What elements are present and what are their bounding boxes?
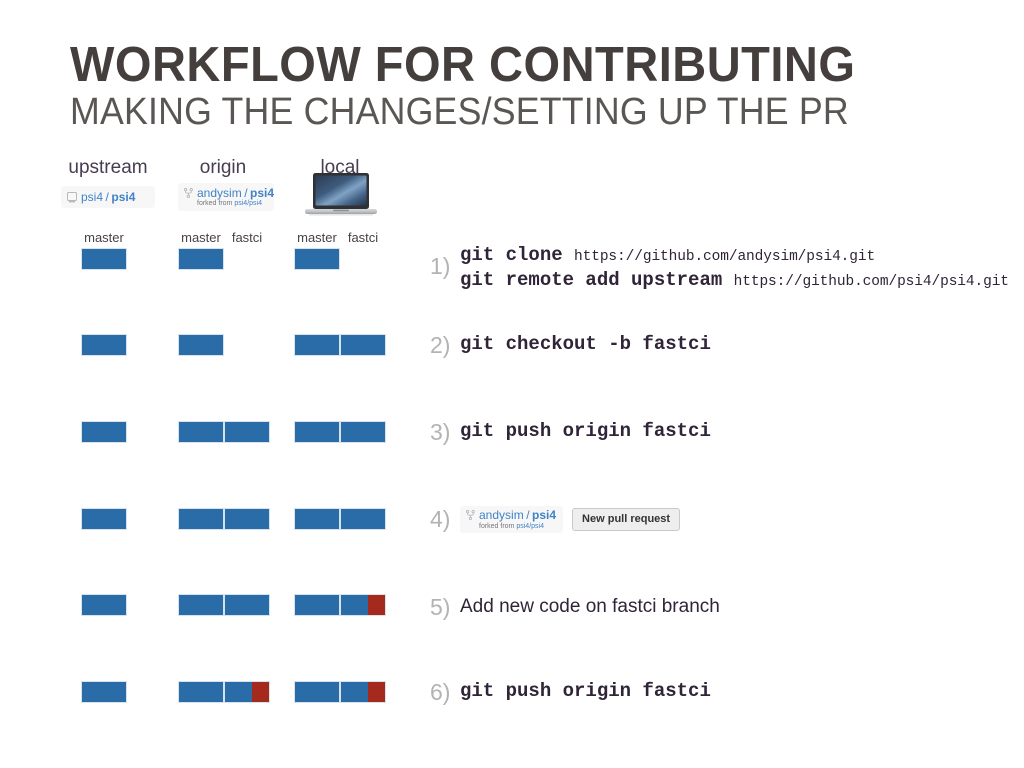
laptop-icon: [305, 171, 377, 219]
step-number: 6): [430, 679, 460, 704]
repo-separator: /: [244, 187, 247, 200]
forked-from-label: forked from psi4/psi4: [466, 523, 556, 530]
command-text: git clone: [460, 244, 574, 266]
bar-segment-blue: [225, 422, 269, 442]
repo-badge-pull-request[interactable]: andysim/psi4forked from psi4/psi4: [460, 506, 563, 533]
branch-bar-local-row5: [340, 594, 386, 616]
branch-bar-local-row2: [294, 334, 340, 356]
step-3: 3)git push origin fastci: [430, 419, 711, 444]
branch-bar-origin-row4: [224, 508, 270, 530]
step-content: git push origin fastci: [460, 679, 711, 704]
branch-bar-local-row3: [340, 421, 386, 443]
step-number: 5): [430, 594, 460, 619]
branch-bar-origin-row3: [178, 421, 224, 443]
bar-segment-blue: [82, 509, 126, 529]
repo-owner[interactable]: andysim: [479, 509, 524, 522]
branch-label-local-fastci: fastci: [340, 231, 386, 244]
branch-bar-local-row5: [294, 594, 340, 616]
bar-segment-blue: [295, 682, 339, 702]
branch-label-origin-master: master: [178, 231, 224, 244]
step-number: 2): [430, 332, 460, 357]
bar-segment-blue: [179, 422, 223, 442]
git-command-line: git clone https://github.com/andysim/psi…: [460, 243, 1009, 268]
branch-label-upstream-master: master: [81, 231, 127, 244]
bar-segment-red: [368, 682, 385, 702]
bar-segment-blue: [295, 509, 339, 529]
branch-bar-origin-row5: [178, 594, 224, 616]
branch-bar-local-row4: [294, 508, 340, 530]
column-title-upstream: upstream: [48, 158, 168, 177]
page-title: WORKFLOW FOR CONTRIBUTING: [70, 41, 855, 90]
repo-name[interactable]: psi4: [532, 509, 556, 522]
bar-segment-blue: [341, 335, 385, 355]
branch-bar-upstream-row1: [81, 248, 127, 270]
branch-bar-upstream-row3: [81, 421, 127, 443]
command-text: git remote add upstream: [460, 269, 734, 291]
step-number: 1): [430, 243, 460, 278]
repo-separator: /: [526, 509, 529, 522]
repo-badge-line: andysim/psi4: [466, 509, 556, 522]
bar-segment-blue: [341, 595, 368, 615]
branch-bar-origin-row6: [178, 681, 224, 703]
bar-segment-blue: [179, 595, 223, 615]
bar-segment-blue: [225, 509, 269, 529]
branch-label-local-master: master: [294, 231, 340, 244]
step-2: 2)git checkout -b fastci: [430, 332, 711, 357]
branch-bar-upstream-row5: [81, 594, 127, 616]
pull-request-row: andysim/psi4forked from psi4/psi4New pul…: [460, 506, 680, 533]
step-content: git clone https://github.com/andysim/psi…: [460, 243, 1009, 294]
forked-from-label: forked from psi4/psi4: [184, 200, 267, 207]
bar-segment-blue: [179, 682, 223, 702]
bar-segment-blue: [295, 249, 339, 269]
page-subtitle: MAKING THE CHANGES/SETTING UP THE PR: [70, 93, 849, 131]
bar-segment-red: [368, 595, 385, 615]
new-pull-request-button[interactable]: New pull request: [572, 508, 680, 531]
git-command-line: git push origin fastci: [460, 419, 711, 444]
bar-segment-blue: [82, 595, 126, 615]
bar-segment-blue: [295, 595, 339, 615]
branch-bar-local-row6: [340, 681, 386, 703]
step-5: 5)Add new code on fastci branch: [430, 594, 720, 619]
branch-bar-origin-row4: [178, 508, 224, 530]
repo-badge-line: psi4 / psi4: [67, 191, 148, 204]
forked-from-link[interactable]: psi4/psi4: [516, 523, 544, 530]
branch-bar-local-row3: [294, 421, 340, 443]
branch-bar-origin-row2: [178, 334, 224, 356]
command-text: git checkout -b fastci: [460, 333, 711, 355]
bar-segment-blue: [82, 335, 126, 355]
branch-bar-upstream-row6: [81, 681, 127, 703]
step-number: 4): [430, 506, 460, 531]
column-title-origin: origin: [163, 158, 283, 177]
forked-from-link[interactable]: psi4/psi4: [234, 200, 262, 207]
step-4: 4)andysim/psi4forked from psi4/psi4New p…: [430, 506, 680, 533]
bar-segment-blue: [179, 509, 223, 529]
bar-segment-blue: [295, 422, 339, 442]
repo-name[interactable]: psi4: [250, 187, 274, 200]
repo-badge-upstream[interactable]: psi4 / psi4: [61, 186, 155, 208]
branch-bar-local-row4: [340, 508, 386, 530]
repo-separator: /: [106, 191, 109, 204]
branch-bar-origin-row5: [224, 594, 270, 616]
bar-segment-blue: [225, 682, 252, 702]
bar-segment-blue: [82, 682, 126, 702]
bar-segment-blue: [225, 595, 269, 615]
bar-segment-blue: [341, 509, 385, 529]
bar-segment-blue: [82, 249, 126, 269]
command-url: https://github.com/andysim/psi4.git: [574, 249, 875, 265]
branch-bar-local-row1: [294, 248, 340, 270]
bar-segment-red: [252, 682, 269, 702]
step-content: git checkout -b fastci: [460, 332, 711, 357]
step-number: 3): [430, 419, 460, 444]
step-6: 6)git push origin fastci: [430, 679, 711, 704]
repo-name[interactable]: psi4: [111, 191, 135, 204]
fork-icon: [466, 510, 475, 520]
branch-bar-local-row2: [340, 334, 386, 356]
branch-bar-origin-row6: [224, 681, 270, 703]
command-text: git push origin fastci: [460, 680, 711, 702]
command-url: https://github.com/psi4/psi4.git: [734, 274, 1009, 290]
repo-owner[interactable]: psi4: [81, 191, 103, 204]
command-text: git push origin fastci: [460, 420, 711, 442]
forked-from-prefix: forked from: [479, 523, 516, 530]
bar-segment-blue: [295, 335, 339, 355]
branch-label-origin-fastci: fastci: [224, 231, 270, 244]
git-command-line: git remote add upstream https://github.c…: [460, 268, 1009, 293]
branch-bar-upstream-row4: [81, 508, 127, 530]
bar-segment-blue: [341, 682, 368, 702]
repo-badge-origin[interactable]: andysim / psi4 forked from psi4/psi4: [178, 183, 274, 211]
repo-icon: [67, 192, 77, 203]
branch-bar-upstream-row2: [81, 334, 127, 356]
branch-bar-origin-row1: [178, 248, 224, 270]
branch-bar-local-row6: [294, 681, 340, 703]
forked-from-prefix: forked from: [197, 200, 234, 207]
git-command-line: git checkout -b fastci: [460, 332, 711, 357]
bar-segment-blue: [341, 422, 385, 442]
step-content: Add new code on fastci branch: [460, 594, 720, 619]
step-text: Add new code on fastci branch: [460, 594, 720, 619]
bar-segment-blue: [179, 249, 223, 269]
step-content: git push origin fastci: [460, 419, 711, 444]
bar-segment-blue: [179, 335, 223, 355]
bar-segment-blue: [82, 422, 126, 442]
git-command-line: git push origin fastci: [460, 679, 711, 704]
branch-bar-origin-row3: [224, 421, 270, 443]
step-1: 1)git clone https://github.com/andysim/p…: [430, 243, 1009, 294]
repo-owner[interactable]: andysim: [197, 187, 242, 200]
step-content: andysim/psi4forked from psi4/psi4New pul…: [460, 506, 680, 533]
repo-badge-line: andysim / psi4: [184, 187, 267, 200]
slide-canvas: WORKFLOW FOR CONTRIBUTING MAKING THE CHA…: [0, 0, 1024, 768]
fork-icon: [184, 188, 193, 198]
